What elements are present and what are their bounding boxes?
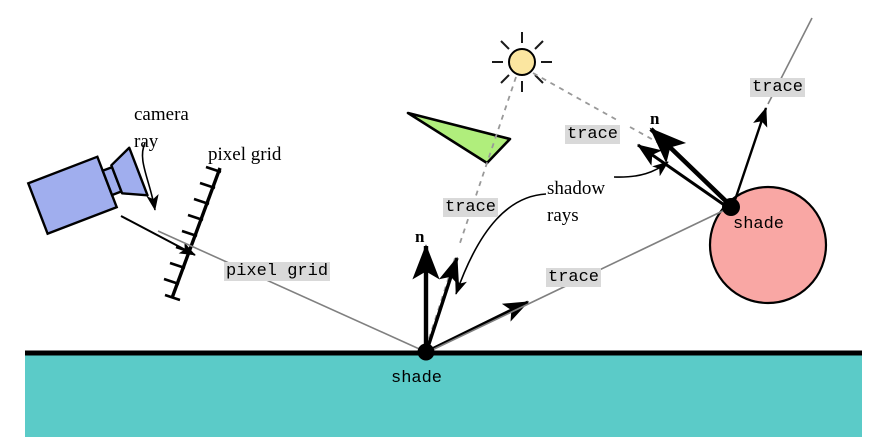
sphere-shadow-ray — [638, 145, 730, 209]
shade-label-ground: shade — [391, 370, 442, 387]
shadow-rays-leader-sphere — [614, 162, 668, 177]
pixel-grid-label: pixel grid — [208, 145, 281, 164]
trace-label-camera-ray: pixel grid — [224, 262, 330, 281]
hit-point-ground — [418, 344, 435, 361]
pixel-grid — [164, 167, 221, 300]
normal-label-ground: n — [415, 228, 424, 245]
sphere-reflected-ray — [733, 18, 812, 206]
light-source-sun — [492, 32, 552, 92]
shadow-rays-label-line1: shadow — [547, 179, 605, 198]
primary-trace-ray — [158, 231, 426, 352]
camera-ray-label-line2: ray — [134, 132, 158, 151]
sphere-normal-vector — [651, 129, 731, 206]
trace-label-sphere-reflected: trace — [750, 78, 805, 97]
shadow-rays-label-line2: rays — [547, 206, 579, 225]
trace-label-ground-shadow: trace — [443, 198, 498, 217]
normal-label-sphere: n — [650, 110, 659, 127]
ground-plane — [25, 353, 862, 437]
trace-label-sphere-shadow: trace — [565, 125, 620, 144]
ground-shadow-ray — [427, 258, 457, 350]
camera-ray-leader — [142, 143, 155, 210]
shade-label-sphere: shade — [733, 216, 784, 233]
hit-point-sphere — [722, 198, 740, 216]
camera-ray-label-line1: camera — [134, 105, 189, 124]
ray-tracing-diagram: camera ray pixel grid pixel grid trace t… — [0, 0, 881, 441]
ground-reflected-ray-arrow — [430, 302, 528, 350]
trace-label-ground-reflected: trace — [546, 268, 601, 287]
